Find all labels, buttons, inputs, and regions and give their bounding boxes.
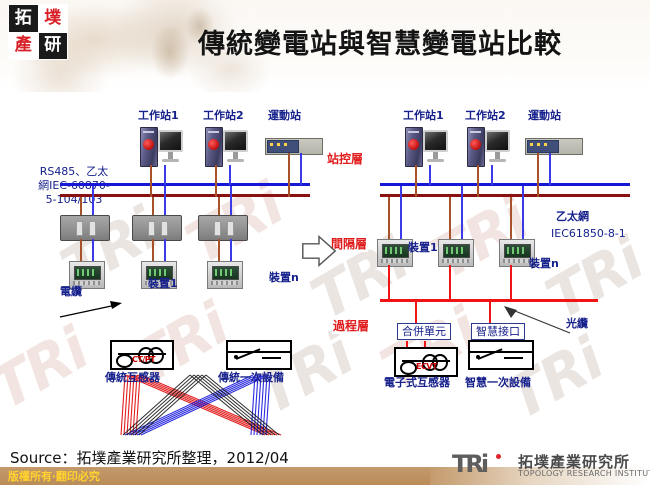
- right-ethernet-label-line1: 乙太網: [556, 210, 589, 223]
- layer-process-label: 過程層: [332, 317, 370, 334]
- right-drop-brown-1: [415, 165, 417, 197]
- left-converter-box-2: [132, 215, 182, 241]
- right-gateway-rack: [525, 138, 583, 155]
- tri-logo-mark: TRi: [452, 452, 486, 476]
- right-devicen-label: 裝置n: [529, 257, 559, 270]
- right-transformer-label: 電子式互感器: [384, 376, 450, 389]
- left-bus-drop-brown-b: [152, 197, 154, 215]
- left-ied-3: [207, 261, 243, 289]
- left-converter-box-1: [60, 215, 110, 241]
- left-bus-drop-blue-a: [92, 186, 94, 215]
- right-ied-drop-brown-3: [510, 197, 512, 239]
- right-drop-brown-3: [537, 153, 539, 197]
- right-drop-blue-3: [549, 153, 551, 185]
- ct-pt-tag: CT/PT: [132, 355, 155, 364]
- left-bus-drop-blue-b: [164, 186, 166, 215]
- left-ied-drop-brown-1: [80, 239, 82, 261]
- left-device1-label: 裝置1: [148, 277, 178, 290]
- right-ethernet-label-line2: IEC61850-8-1: [551, 227, 626, 240]
- logo-cell-3: 產: [9, 33, 38, 60]
- left-drop-brown-1: [150, 165, 152, 197]
- left-drop-blue-1: [164, 165, 166, 185]
- left-workstation1-label: 工作站1: [138, 109, 179, 122]
- right-ecvt-symbol: ECVT: [394, 347, 458, 377]
- left-transformer-label: 傳統互感器: [105, 371, 160, 384]
- right-workstation1-pc: [405, 127, 449, 167]
- layer-station-control-label: 站控層: [326, 150, 364, 167]
- left-converter-box-3: [198, 215, 248, 241]
- left-drop-blue-3: [300, 153, 302, 185]
- source-line: Source：拓墣產業研究所整理，2012/04: [10, 447, 289, 468]
- left-ied-drop-brown-2: [152, 239, 154, 261]
- right-gateway-label: 運動站: [528, 109, 561, 122]
- right-ied-drop-blue-1: [400, 186, 402, 239]
- right-workstation2-pc: [467, 127, 511, 167]
- left-gateway-rack: [265, 138, 323, 155]
- right-ied-2: [438, 239, 474, 267]
- monitor-icon: [485, 130, 510, 152]
- pc-tower-icon: [140, 127, 158, 167]
- right-process-drop-2: [449, 265, 451, 300]
- right-drop-blue-2: [491, 165, 493, 185]
- left-ied-drop-brown-3: [218, 239, 220, 261]
- left-protocol-line1: RS485、乙太: [28, 165, 120, 178]
- left-bus-drop-blue-c: [230, 186, 232, 215]
- left-gateway-label: 運動站: [268, 109, 301, 122]
- right-breaker-symbol: [468, 340, 534, 370]
- monitor-icon: [423, 130, 448, 152]
- monitor-icon: [223, 130, 248, 152]
- left-workstation2-label: 工作站2: [203, 109, 244, 122]
- tri-logo-dot: [496, 454, 501, 459]
- right-ied-drop-blue-2: [461, 186, 463, 239]
- right-drop-blue-1: [429, 165, 431, 185]
- right-station-bus-blue: [380, 183, 630, 186]
- right-workstation2-label: 工作站2: [465, 109, 506, 122]
- logo-cell-1: 拓: [9, 5, 38, 32]
- copyright-text: 版權所有‧翻印必究: [8, 468, 100, 484]
- left-ied-drop-blue-3: [230, 239, 232, 261]
- left-ct-pt-symbol: CT/PT: [110, 340, 174, 370]
- left-station-bus-blue: [60, 183, 310, 186]
- right-ied-drop-brown-1: [388, 197, 390, 239]
- right-ied-drop-brown-2: [449, 197, 451, 239]
- left-bus-drop-brown-c: [218, 197, 220, 215]
- tri-logo-english: TOPOLOGY RESEARCH INSTITUTE: [518, 469, 650, 478]
- right-drop-brown-2: [477, 165, 479, 197]
- right-fiber-cable-label: 光纜: [566, 317, 588, 330]
- smart-interface-callout: 智慧接口: [471, 323, 525, 340]
- logo-cell-2: 墣: [39, 5, 68, 32]
- ecvt-tag: ECVT: [416, 362, 437, 371]
- left-workstation1-pc: [140, 127, 184, 167]
- slide-root: 拓 墣 產 研 傳統變電站與智慧變電站比較 TRi TRi TRi TRi TR…: [0, 0, 650, 485]
- right-process-drop-3: [510, 265, 512, 300]
- left-bus-drop-brown-a: [80, 197, 82, 215]
- pc-tower-icon: [205, 127, 223, 167]
- tri-square-logo: 拓 墣 產 研: [8, 4, 68, 60]
- left-workstation2-pc: [205, 127, 249, 167]
- pc-tower-icon: [467, 127, 485, 167]
- left-devicen-label: 裝置n: [269, 271, 299, 284]
- cable-leader-arrow: [58, 295, 128, 325]
- footer-tri-logo: TRi 拓墣產業研究所 TOPOLOGY RESEARCH INSTITUTE: [452, 452, 644, 480]
- comparison-diagram: 工作站1 工作站2 運動站 RS485、乙太 網IEC-60870- 5-104…: [0, 95, 650, 405]
- transition-arrow-icon: [300, 233, 338, 269]
- left-drop-blue-2: [229, 165, 231, 185]
- right-device1-label: 裝置1: [408, 241, 438, 254]
- left-primary-equipment-label: 傳統一次設備: [218, 371, 284, 384]
- left-station-bus-red: [60, 194, 310, 197]
- left-drop-brown-2: [215, 165, 217, 197]
- page-title: 傳統變電站與智慧變電站比較: [150, 22, 610, 61]
- left-ied-drop-blue-1: [92, 239, 94, 261]
- monitor-icon: [158, 130, 183, 152]
- logo-cell-4: 研: [39, 33, 68, 60]
- right-workstation1-label: 工作站1: [403, 109, 444, 122]
- right-process-drop-1: [388, 265, 390, 300]
- right-primary-equipment-label: 智慧一次設備: [465, 376, 531, 389]
- merging-unit-callout: 合併單元: [397, 323, 451, 340]
- pc-tower-icon: [405, 127, 423, 167]
- left-ied-drop-blue-2: [164, 239, 166, 261]
- left-drop-brown-3: [288, 153, 290, 197]
- right-station-bus-red: [380, 194, 630, 197]
- left-breaker-symbol: [226, 340, 292, 370]
- right-ied-drop-blue-3: [522, 186, 524, 239]
